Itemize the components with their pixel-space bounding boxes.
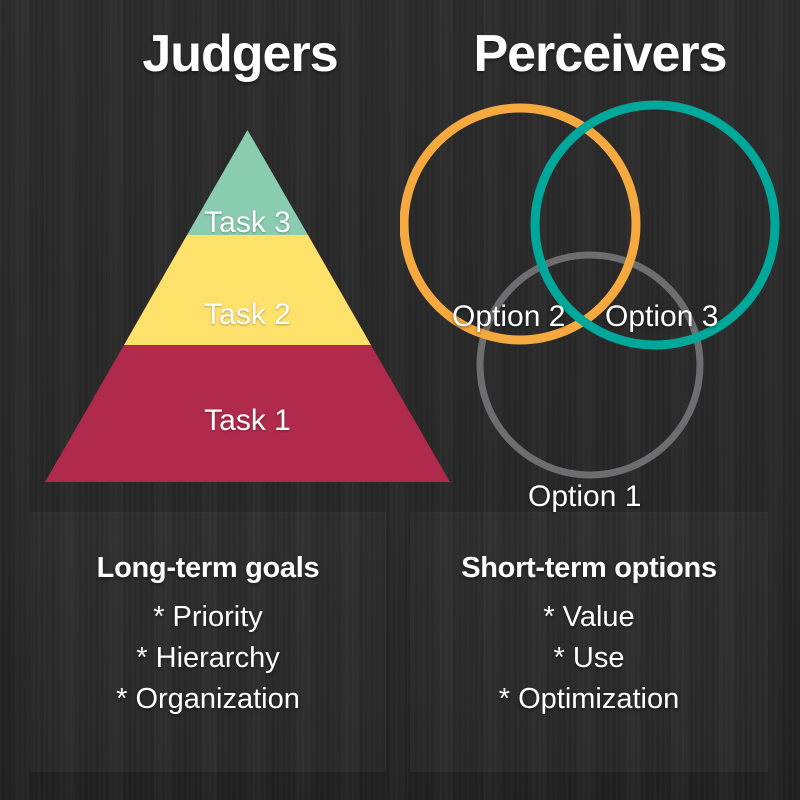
venn-circle-option-1 (480, 255, 700, 475)
pyramid-label-task-1: Task 1 (45, 404, 450, 438)
panel-item-optimization: * Optimization (410, 679, 768, 720)
summary-panel-judgers: Long-term goals * Priority * Hierarchy *… (30, 512, 386, 772)
panel-item-organization: * Organization (30, 679, 386, 720)
summary-panel-perceivers: Short-term options * Value * Use * Optim… (410, 512, 768, 772)
panel-item-value: * Value (410, 597, 768, 638)
venn-label-option-2: Option 2 (452, 300, 565, 334)
pyramid-label-task-3: Task 3 (45, 206, 450, 240)
column-title-judgers: Judgers (40, 24, 440, 84)
task-pyramid: Task 3 Task 2 Task 1 (45, 130, 450, 482)
panel-title-long-term-goals: Long-term goals (30, 552, 386, 585)
panel-item-use: * Use (410, 638, 768, 679)
column-title-perceivers: Perceivers (400, 24, 800, 84)
panel-item-priority: * Priority (30, 597, 386, 638)
panel-title-short-term-options: Short-term options (410, 552, 768, 585)
pyramid-label-task-2: Task 2 (45, 298, 450, 332)
venn-label-option-1: Option 1 (528, 480, 641, 514)
infographic-canvas: Judgers Perceivers Task 3 Task 2 Task 1 … (0, 0, 800, 800)
venn-label-option-3: Option 3 (605, 300, 718, 334)
panel-item-hierarchy: * Hierarchy (30, 638, 386, 679)
options-venn-diagram: Option 2 Option 3 Option 1 (400, 95, 800, 490)
